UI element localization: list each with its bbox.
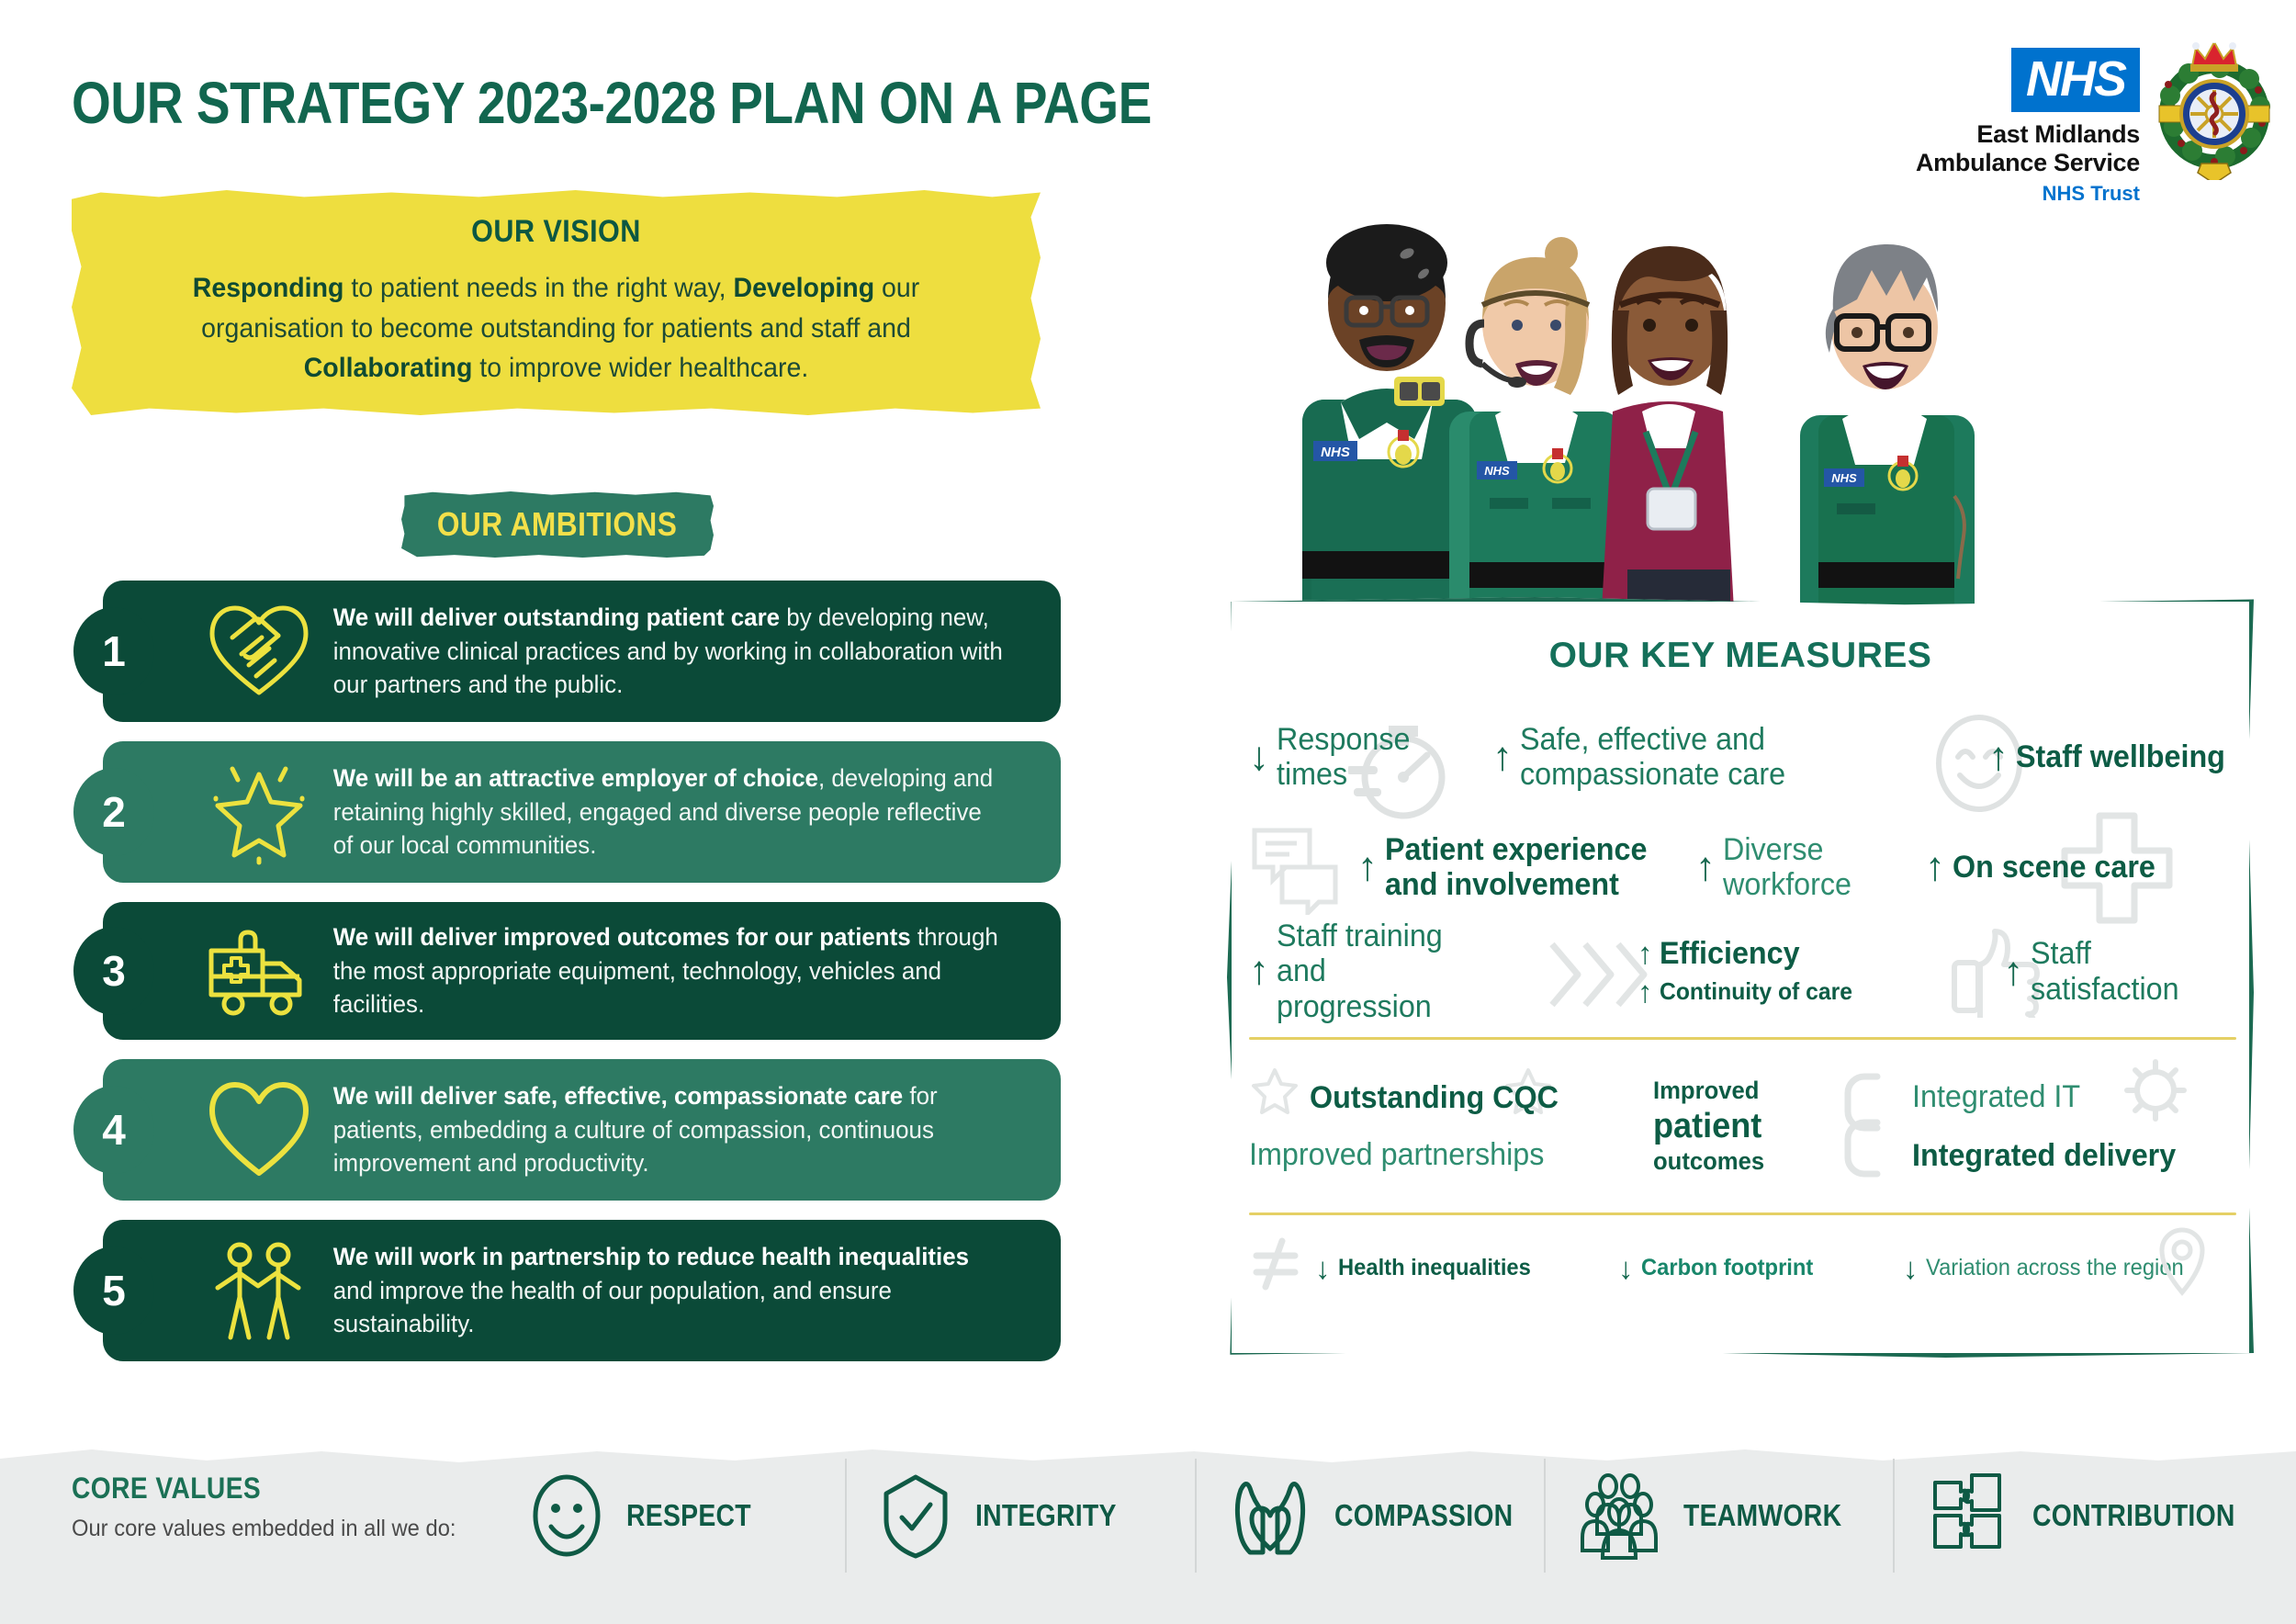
core-value-label: TEAMWORK (1683, 1498, 1841, 1533)
ambition-text-bold: We will be an attractive employer of cho… (333, 764, 818, 792)
ambition-row: 4We will deliver safe, effective, compas… (73, 1059, 1061, 1201)
measure-label: Efficiency (1660, 936, 1800, 971)
vision-heading: OUR VISION (163, 214, 950, 250)
two-people-icon (190, 1236, 328, 1345)
strategy-plan-page: OUR STRATEGY 2023-2028 PLAN ON A PAGE NH… (0, 0, 2296, 1624)
ambition-card: We will work in partnership to reduce he… (103, 1220, 1061, 1361)
vision-statement: Responding to patient needs in the right… (141, 268, 971, 389)
key-measures-row-5: ↓ Health inequalities ↓ Carbon footprint… (1249, 1228, 2236, 1307)
key-measures-content: ↓ Response times ↑ Safe, effective and c… (1249, 698, 2236, 1307)
arrow-up-icon: ↑ (1492, 737, 1513, 777)
chain-link-icon (1837, 1066, 1901, 1185)
vision-text-run: to improve wider healthcare. (472, 353, 808, 383)
ambition-text: We will be an attractive employer of cho… (328, 761, 1005, 862)
core-value-contribution[interactable]: CONTRIBUTION (1893, 1451, 2268, 1580)
core-value-label: COMPASSION (1334, 1498, 1513, 1533)
ambition-text-bold: We will work in partnership to reduce he… (333, 1243, 969, 1270)
measure-staff-wellbeing: ↑ Staff wellbeing (1988, 737, 2236, 777)
ambition-text-bold: We will deliver outstanding patient care (333, 603, 780, 631)
measure-label: Response times (1277, 722, 1481, 792)
staff-member-3 (1600, 246, 1736, 643)
measure-patient-experience: ↑ Patient experience and involvement (1357, 832, 1695, 902)
measure-improved-partnerships: Improved partnerships (1249, 1137, 1633, 1172)
measure-efficiency-group: ↑ Efficiency ↑ Continuity of care (1638, 936, 1913, 1007)
ambition-text: We will deliver improved outcomes for ou… (328, 920, 1005, 1021)
measure-label: Staff wellbeing (2016, 739, 2225, 774)
arrow-up-icon: ↑ (1925, 847, 1945, 887)
measure-label: Staff training and progression (1277, 919, 1489, 1023)
staff-member-4: NHS (1800, 244, 1975, 643)
ambition-text: We will work in partnership to reduce he… (328, 1240, 1005, 1340)
vision-keyword: Responding (193, 273, 344, 303)
ambition-text: We will deliver outstanding patient care… (328, 601, 1005, 701)
ambition-row: 2We will be an attractive employer of ch… (73, 741, 1061, 883)
key-measures-row-4: Outstanding CQC Improved partnerships Im… (1249, 1053, 2236, 1200)
ambition-number-badge: 2 (73, 768, 154, 856)
divider-line-bottom (1249, 1212, 2236, 1215)
measure-integrated-it: Integrated IT (1912, 1079, 2176, 1114)
key-measures-row-1: ↓ Response times ↑ Safe, effective and c… (1249, 698, 2236, 816)
core-values-list: RESPECT INTEGRITY COMPASSION (496, 1451, 2268, 1580)
measure-staff-satisfaction: ↑ Staff satisfaction (2003, 936, 2236, 1006)
measure-on-scene-care: ↑ On scene care (1925, 847, 2166, 887)
ambition-text-rest: and improve the health of our population… (333, 1277, 892, 1337)
staff-member-2: NHS (1449, 237, 1619, 643)
arrow-up-icon: ↑ (1988, 737, 2009, 777)
ambition-text: We will deliver safe, effective, compass… (328, 1079, 1005, 1179)
key-measures-heading: OUR KEY MEASURES (1227, 636, 2254, 676)
measure-integrated-group: Integrated IT Integrated delivery (1912, 1079, 2189, 1173)
measure-carbon-footprint: ↓ Carbon footprint (1618, 1253, 1903, 1283)
vision-text-run: to patient needs in the right way, (343, 273, 733, 303)
measure-safe-effective-care: ↑ Safe, effective and compassionate care (1492, 722, 1841, 792)
group-people-icon (1575, 1470, 1663, 1562)
ambition-row: 1We will deliver outstanding patient car… (73, 581, 1061, 722)
measure-label: Safe, effective and compassionate care (1520, 722, 1826, 792)
measure-improved: Improved (1653, 1077, 1828, 1104)
vision-keyword: Collaborating (304, 353, 473, 383)
ambulance-staff-illustration: NHS NHS (1286, 165, 2011, 643)
core-values-title: CORE VALUES (72, 1472, 261, 1506)
key-measures-row-2: ↑ Patient experience and involvement ↑ D… (1249, 816, 2236, 919)
ambition-text-bold: We will deliver safe, effective, compass… (333, 1082, 903, 1110)
measure-label: Patient experience and involvement (1385, 832, 1680, 902)
location-pin-icon (2154, 1224, 2211, 1298)
ambition-text-bold: We will deliver improved outcomes for ou… (333, 923, 911, 951)
ambition-card: We will deliver improved outcomes for ou… (103, 902, 1061, 1040)
measure-label: Diverse workforce (1723, 832, 1915, 902)
arrow-down-icon: ↓ (1249, 737, 1269, 777)
core-value-label: RESPECT (626, 1498, 751, 1533)
arrow-up-icon: ↑ (1249, 951, 1269, 991)
core-value-integrity[interactable]: INTEGRITY (845, 1451, 1194, 1580)
measure-label: Carbon footprint (1641, 1255, 1813, 1280)
measure-partnerships-group: Outstanding CQC Improved partnerships (1249, 1080, 1653, 1172)
arrow-down-icon: ↓ (1618, 1253, 1634, 1283)
ambition-card: We will be an attractive employer of cho… (103, 741, 1061, 883)
ambition-number-badge: 5 (73, 1246, 154, 1335)
hands-heart-icon (1226, 1470, 1314, 1562)
svg-text:NHS: NHS (1321, 445, 1350, 460)
arrow-up-icon: ↑ (2003, 952, 2023, 992)
ambition-number-badge: 3 (73, 927, 154, 1015)
speech-bubbles-icon (1249, 823, 1350, 915)
svg-text:NHS: NHS (1484, 464, 1510, 478)
handshake-heart-icon (190, 597, 328, 705)
arrow-down-icon: ↓ (1315, 1253, 1331, 1283)
divider-line-top (1249, 1037, 2236, 1040)
arrow-up-icon: ↑ (1695, 847, 1716, 887)
measure-label: Health inequalities (1338, 1255, 1531, 1280)
measure-label: Staff satisfaction (2031, 936, 2226, 1006)
org-name-line1: East Midlands (1864, 120, 2140, 149)
ambitions-heading-badge: OUR AMBITIONS (401, 491, 714, 558)
measure-label: On scene care (1953, 850, 2155, 885)
core-value-teamwork[interactable]: TEAMWORK (1544, 1451, 1893, 1580)
nhs-badge: NHS (2011, 48, 2140, 112)
measure-continuity-of-care: ↑ Continuity of care (1638, 976, 1913, 1007)
ambition-row: 5We will work in partnership to reduce h… (73, 1220, 1061, 1361)
measure-diverse-workforce: ↑ Diverse workforce (1695, 832, 1925, 902)
measure-label: Variation across the region (1926, 1255, 2184, 1280)
puzzle-pieces-icon (1924, 1470, 2012, 1562)
arrow-down-icon: ↓ (1903, 1253, 1919, 1283)
arrow-up-icon: ↑ (1357, 847, 1378, 887)
measure-label: Continuity of care (1660, 978, 1852, 1005)
ambitions-heading-label: OUR AMBITIONS (437, 505, 677, 544)
measure-outstanding-cqc: Outstanding CQC (1310, 1080, 1636, 1115)
measure-integrated-delivery: Integrated delivery (1912, 1138, 2176, 1173)
ambulance-icon (190, 919, 328, 1022)
key-measures-row-3: ↑ Staff training and progression ↑ Effic… (1249, 919, 2236, 1024)
ambition-card: We will deliver safe, effective, compass… (103, 1059, 1061, 1201)
unequal-icon (1245, 1234, 1306, 1294)
svg-text:NHS: NHS (1831, 471, 1857, 485)
measure-outcomes: outcomes (1653, 1147, 1828, 1175)
ambition-row: 3We will deliver improved outcomes for o… (73, 902, 1061, 1040)
ambition-number-badge: 4 (73, 1086, 154, 1174)
core-value-label: INTEGRITY (975, 1498, 1117, 1533)
measure-staff-training: ↑ Staff training and progression (1249, 919, 1500, 1023)
measure-patient: patient (1653, 1107, 1828, 1146)
shield-check-icon (876, 1470, 955, 1562)
measure-patient-outcomes-group: Improved patient outcomes (1653, 1077, 1837, 1175)
vision-box: OUR VISION Responding to patient needs i… (72, 190, 1041, 415)
ambition-number-badge: 1 (73, 607, 154, 695)
measure-response-times: ↓ Response times (1249, 722, 1492, 792)
smiley-face-icon (527, 1470, 606, 1562)
ambulance-service-crest-icon (2155, 42, 2274, 180)
page-title: OUR STRATEGY 2023-2028 PLAN ON A PAGE (72, 69, 1152, 137)
ambition-card: We will deliver outstanding patient care… (103, 581, 1061, 722)
measure-health-inequalities: ↓ Health inequalities (1315, 1253, 1618, 1283)
core-value-respect[interactable]: RESPECT (496, 1451, 845, 1580)
vision-keyword: Developing (733, 273, 874, 303)
heart-icon (190, 1076, 328, 1184)
core-values-subtitle: Our core values embedded in all we do: (72, 1516, 456, 1542)
ambitions-list: 1We will deliver outstanding patient car… (73, 581, 1061, 1381)
star-icon (190, 758, 328, 866)
arrow-up-icon: ↑ (1638, 976, 1653, 1007)
core-value-label: CONTRIBUTION (2032, 1498, 2235, 1533)
measure-efficiency: ↑ Efficiency (1638, 936, 1913, 971)
core-value-compassion[interactable]: COMPASSION (1195, 1451, 1544, 1580)
arrow-up-icon: ↑ (1638, 938, 1653, 968)
